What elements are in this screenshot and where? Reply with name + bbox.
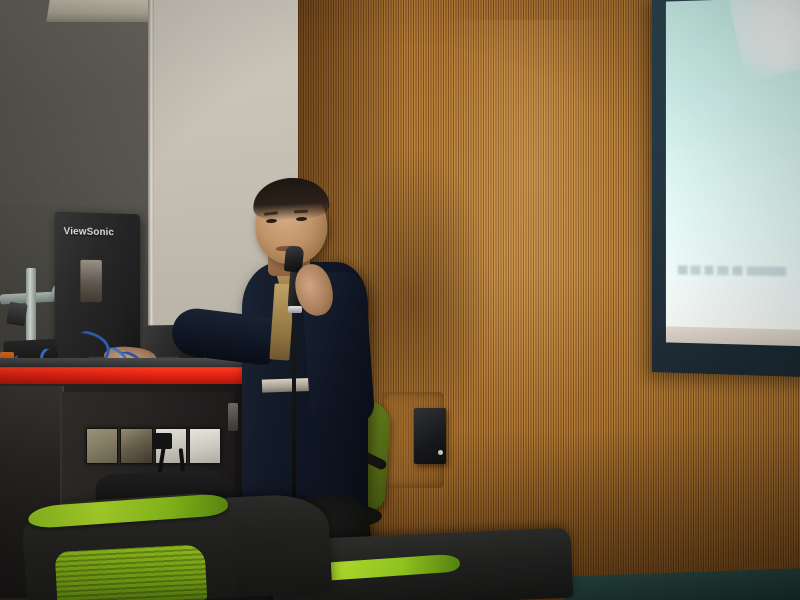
microphone-ring — [288, 306, 302, 313]
ceiling-soffit — [46, 0, 161, 22]
monitor-arm-clamp — [6, 302, 28, 327]
outlet-module-2[interactable] — [120, 428, 152, 464]
conference-room-photo: ViewSonic — [0, 0, 800, 600]
projection-screen-lower-band — [666, 326, 800, 346]
foreground-chair-mesh-back — [55, 544, 208, 600]
presenter-eyebrow-right — [294, 210, 308, 213]
left-dark-wall-panel — [0, 0, 152, 212]
projection-screen-surface — [666, 0, 800, 330]
slide-footer-text — [677, 266, 786, 277]
outlet-module-1[interactable] — [86, 428, 118, 464]
wall-control-panel[interactable] — [414, 408, 446, 464]
podium-latch-handle[interactable] — [228, 403, 238, 431]
wall-panel-indicator-icon — [438, 450, 443, 455]
projection-screen — [652, 0, 800, 377]
outlet-module-4[interactable] — [189, 428, 221, 464]
monitor-brand-label: ViewSonic — [64, 226, 114, 238]
monitor-rear-slot — [80, 260, 101, 302]
